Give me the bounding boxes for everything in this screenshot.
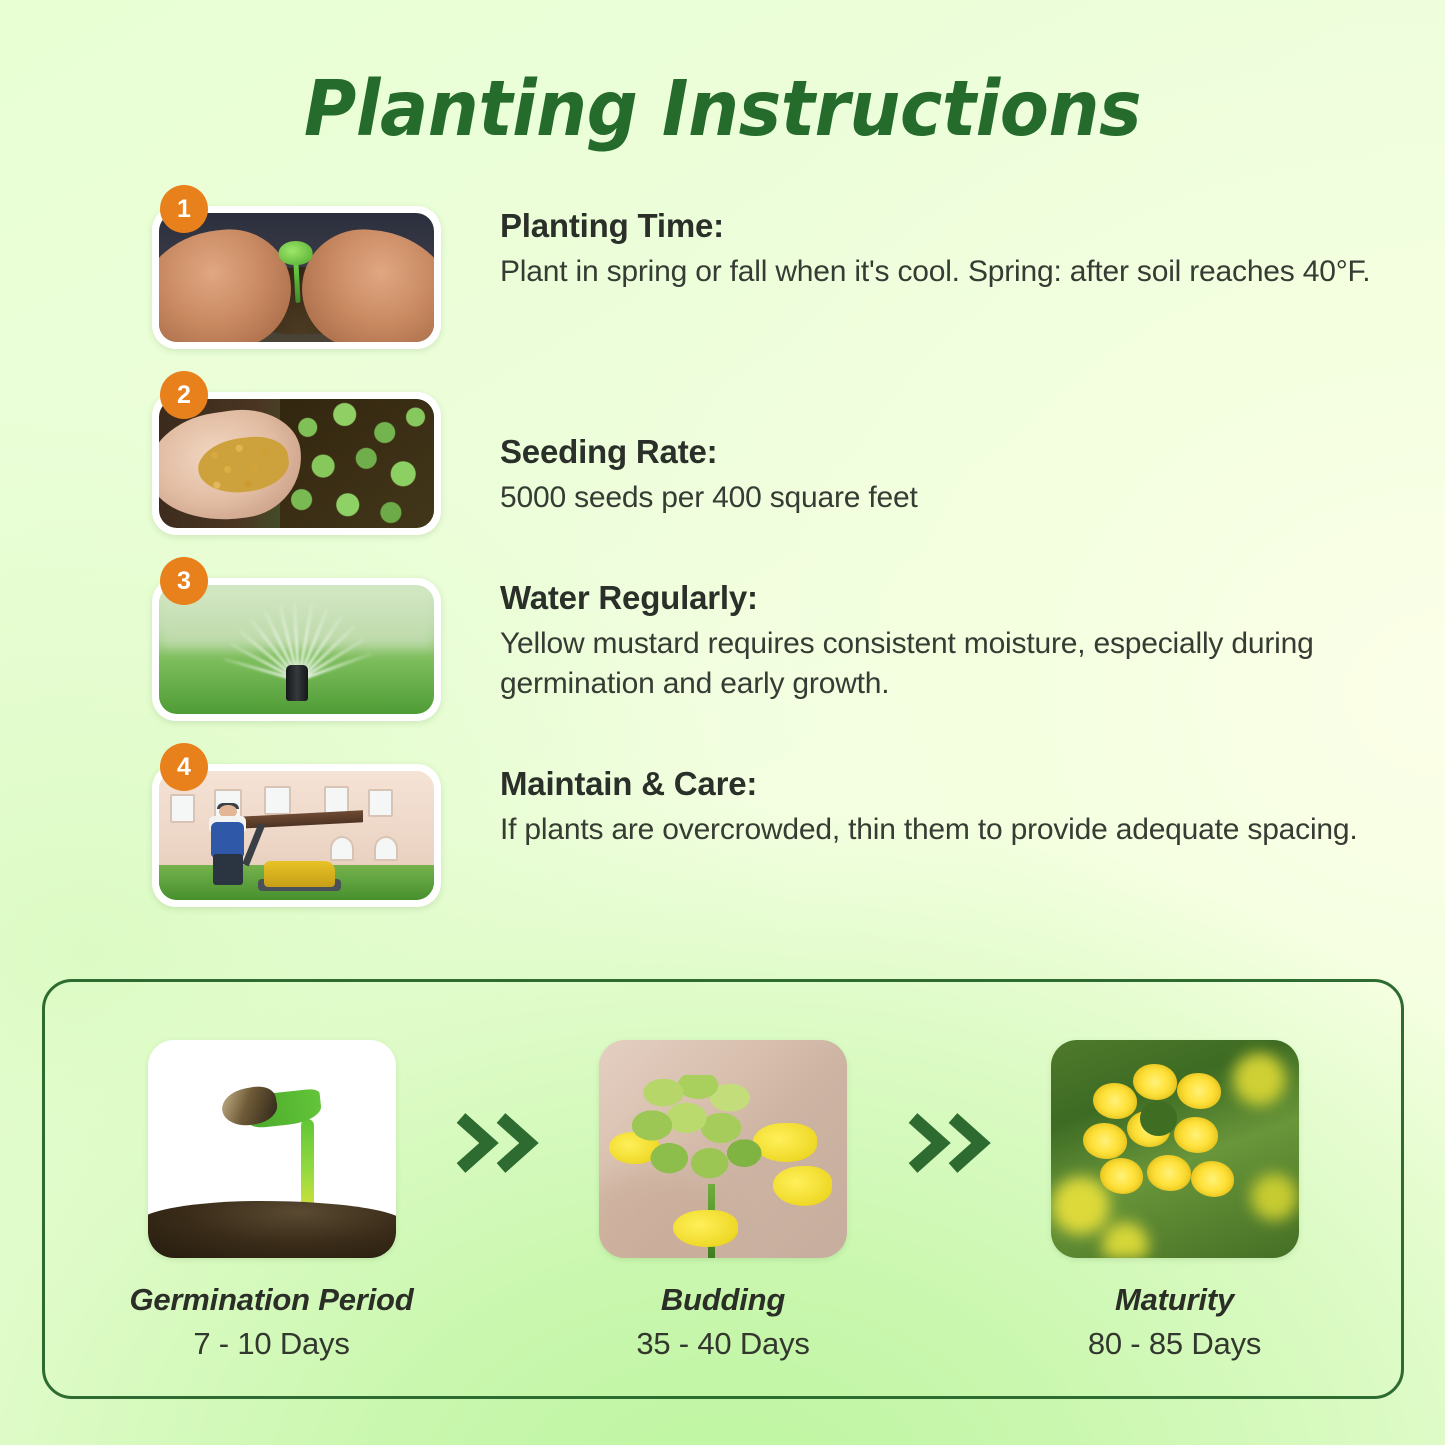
list-item: 2 Seeding Rate: 5000 seeds per 400 squar… bbox=[152, 371, 1392, 535]
step-number-badge: 1 bbox=[160, 185, 208, 233]
step-text: Water Regularly: Yellow mustard requires… bbox=[446, 557, 1392, 704]
step-number-badge: 4 bbox=[160, 743, 208, 791]
step-title: Maintain & Care: bbox=[500, 765, 1358, 803]
list-item: 4 bbox=[152, 743, 1392, 907]
growth-timeline-panel: Germination Period 7 - 10 Days bbox=[42, 979, 1404, 1399]
growth-timeline-row: Germination Period 7 - 10 Days bbox=[45, 982, 1401, 1396]
double-chevron-right-icon bbox=[894, 1040, 1004, 1174]
step-number-badge: 3 bbox=[160, 557, 208, 605]
step-body: Yellow mustard requires consistent moist… bbox=[500, 624, 1392, 704]
step-number-badge: 2 bbox=[160, 371, 208, 419]
man-mowing-lawn-by-house-image bbox=[159, 771, 434, 900]
timeline-stage-value: 7 - 10 Days bbox=[119, 1326, 424, 1362]
page-title: Planting Instructions bbox=[51, 71, 1395, 148]
list-item: 3 bbox=[152, 557, 1392, 721]
list-item: 1 Planting Time: Plant in spr bbox=[152, 185, 1392, 349]
step-media: 3 bbox=[152, 557, 446, 721]
timeline-stage-label: Maturity bbox=[1022, 1282, 1327, 1318]
step-title: Planting Time: bbox=[500, 207, 1370, 245]
yellow-mustard-flowers-in-bloom-image bbox=[1051, 1040, 1299, 1258]
step-media: 4 bbox=[152, 743, 446, 907]
double-chevron-right-icon bbox=[442, 1040, 552, 1174]
hands-holding-soil-with-sprout-image bbox=[159, 213, 434, 342]
timeline-stage-germination: Germination Period 7 - 10 Days bbox=[119, 1040, 424, 1362]
timeline-stage-label: Budding bbox=[571, 1282, 876, 1318]
timeline-stage-value: 80 - 85 Days bbox=[1022, 1326, 1327, 1362]
hand-holding-mustard-seeds-image bbox=[159, 399, 434, 528]
step-body: Plant in spring or fall when it's cool. … bbox=[500, 252, 1370, 292]
step-media: 1 bbox=[152, 185, 446, 349]
timeline-stage-maturity: Maturity 80 - 85 Days bbox=[1022, 1040, 1327, 1362]
planting-instructions-infographic: Planting Instructions 1 bbox=[0, 0, 1445, 1445]
timeline-stage-value: 35 - 40 Days bbox=[571, 1326, 876, 1362]
steps-list: 1 Planting Time: Plant in spr bbox=[152, 185, 1392, 929]
step-title: Water Regularly: bbox=[500, 579, 1392, 617]
lawn-sprinkler-watering-image bbox=[159, 585, 434, 714]
step-text: Seeding Rate: 5000 seeds per 400 square … bbox=[446, 371, 918, 518]
step-title: Seeding Rate: bbox=[500, 433, 918, 471]
timeline-stage-budding: Budding 35 - 40 Days bbox=[571, 1040, 876, 1362]
step-text: Planting Time: Plant in spring or fall w… bbox=[446, 185, 1370, 292]
step-media: 2 bbox=[152, 371, 446, 535]
mustard-flower-buds-image bbox=[599, 1040, 847, 1258]
germinating-seed-in-soil-image bbox=[148, 1040, 396, 1258]
timeline-stage-label: Germination Period bbox=[119, 1282, 424, 1318]
step-text: Maintain & Care: If plants are overcrowd… bbox=[446, 743, 1358, 850]
step-body: 5000 seeds per 400 square feet bbox=[500, 478, 918, 518]
step-body: If plants are overcrowded, thin them to … bbox=[500, 810, 1358, 850]
